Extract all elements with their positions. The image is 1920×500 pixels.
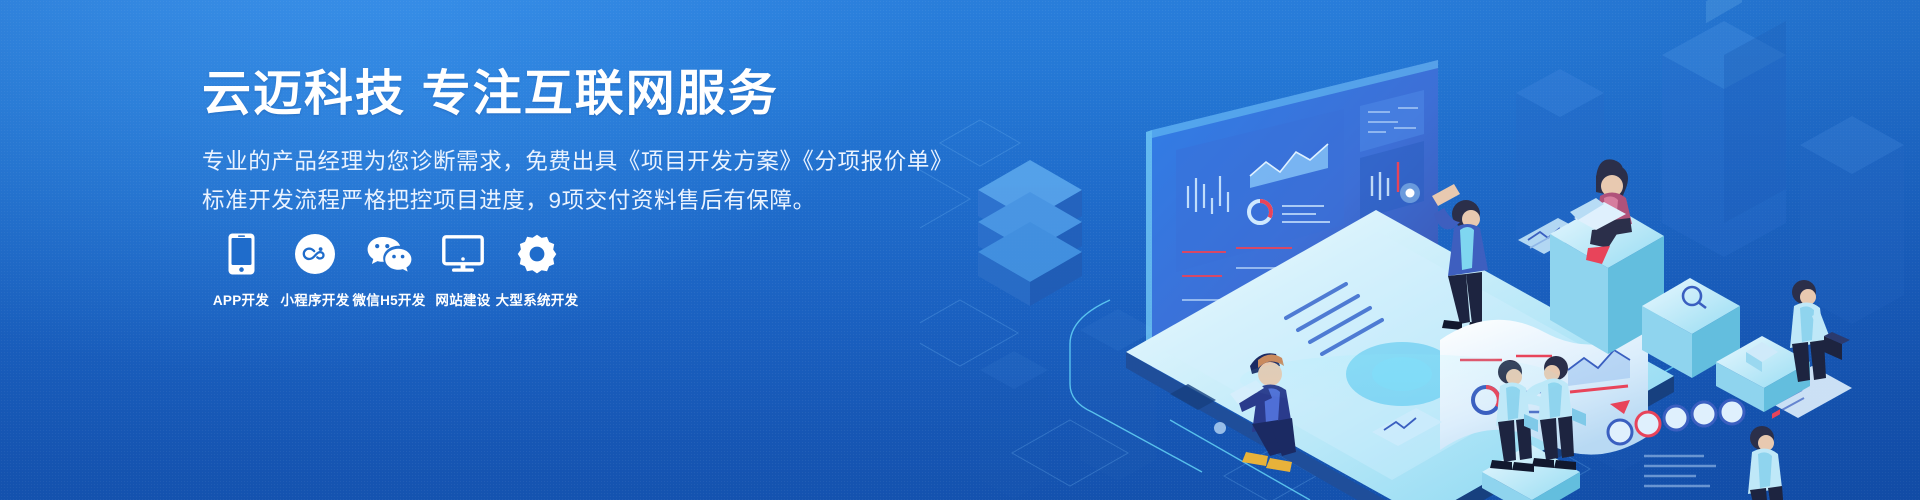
woman-on-pedestal-with-laptop [1550, 159, 1664, 354]
service-label: APP开发 [213, 289, 269, 309]
monitor-icon [442, 232, 484, 276]
floating-chart-card [1518, 218, 1584, 254]
subtitle-line-1: 专业的产品经理为您诊断需求，免费出具《项目开发方案》《分项报价单》 [202, 145, 1102, 178]
service-item-website[interactable]: 网站建设 [426, 232, 500, 309]
city-skyline-blocks [980, 0, 1904, 499]
service-label: 微信H5开发 [352, 289, 425, 309]
subtitle-line-2: 标准开发流程严格把控项目进度，9项交付资料售后有保障。 [202, 184, 1102, 217]
standing-person-pointing [1748, 426, 1784, 500]
service-item-large-system[interactable]: 大型系统开发 [500, 232, 574, 309]
gear-icon [517, 232, 557, 276]
service-item-wechat-h5[interactable]: 微信H5开发 [352, 232, 426, 309]
mini-program-icon [295, 232, 335, 276]
banner-subtitle: 专业的产品经理为您诊断需求，免费出具《项目开发方案》《分项报价单》 标准开发流程… [202, 145, 1102, 217]
wechat-icon [366, 232, 412, 276]
service-item-mini-program[interactable]: 小程序开发 [278, 232, 352, 309]
page-title: 云迈科技 专注互联网服务 [202, 66, 1102, 124]
tablet-platform [1126, 210, 1674, 500]
floating-chart-card [1758, 366, 1852, 419]
two-businessmen-on-tile [1482, 356, 1586, 500]
service-label: 大型系统开发 [496, 289, 579, 309]
service-item-app[interactable]: APP开发 [204, 232, 278, 309]
seated-person-with-laptop [1230, 353, 1296, 472]
man-with-briefcase-on-steps [1642, 278, 1850, 412]
service-label: 小程序开发 [281, 289, 350, 309]
service-label: 网站建设 [435, 289, 490, 309]
standing-person-pointing [1432, 184, 1488, 332]
circuit-path-lines [1070, 258, 1700, 500]
hero-banner: 云迈科技 专注互联网服务 专业的产品经理为您诊断需求，免费出具《项目开发方案》《… [0, 0, 1920, 500]
smartphone-icon [228, 232, 255, 276]
data-report-scroll [1440, 320, 1744, 486]
banner-copy: 云迈科技 专注互联网服务 专业的产品经理为您诊断需求，免费出具《项目开发方案》《… [202, 66, 1102, 217]
floating-chart-card [1372, 408, 1442, 446]
service-icon-strip: APP开发 小程序开发 [204, 232, 574, 309]
dashboard-screen [1146, 60, 1438, 372]
